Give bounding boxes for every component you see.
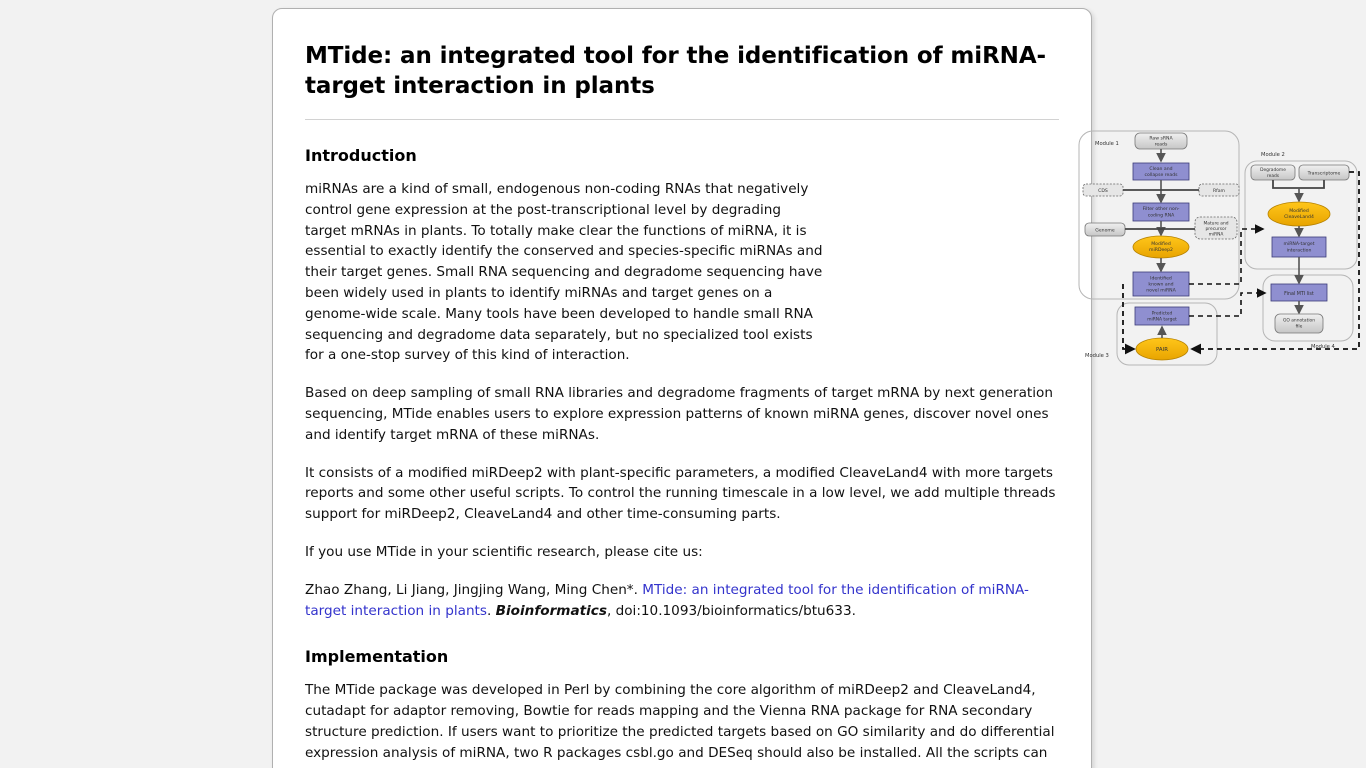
svg-text:miRNA-target: miRNA-target	[1283, 241, 1314, 247]
svg-text:CleaveLand4: CleaveLand4	[1284, 214, 1314, 220]
svg-text:miRNA target: miRNA target	[1147, 317, 1177, 323]
svg-text:Filter other non-: Filter other non-	[1143, 206, 1180, 212]
paragraph-cite-prompt: If you use MTide in your scientific rese…	[305, 542, 1065, 563]
svg-text:collapse reads: collapse reads	[1144, 172, 1178, 178]
paragraph-intro-3: It consists of a modified miRDeep2 with …	[305, 463, 1065, 525]
svg-text:Final MTI list: Final MTI list	[1284, 291, 1314, 297]
svg-text:Modified: Modified	[1151, 241, 1171, 247]
svg-text:Rfam: Rfam	[1213, 188, 1226, 194]
svg-text:Genome: Genome	[1095, 228, 1115, 234]
svg-text:reads: reads	[1155, 142, 1168, 148]
svg-text:CDS: CDS	[1098, 188, 1108, 194]
svg-text:PAIR: PAIR	[1156, 347, 1168, 353]
svg-text:coding RNA: coding RNA	[1148, 213, 1175, 219]
citation-separator: .	[487, 603, 496, 619]
citation-authors: Zhao Zhang, Li Jiang, Jingjing Wang, Min…	[305, 582, 642, 598]
citation-doi: , doi:10.1093/bioinformatics/btu633.	[607, 603, 856, 619]
svg-text:reads: reads	[1267, 173, 1280, 179]
paragraph-intro-2: Based on deep sampling of small RNA libr…	[305, 383, 1065, 445]
svg-text:interaction: interaction	[1287, 248, 1312, 254]
svg-text:novel miRNA: novel miRNA	[1146, 288, 1176, 294]
svg-text:Modified: Modified	[1289, 208, 1309, 214]
document-card: MTide: an integrated tool for the identi…	[272, 8, 1092, 768]
module-3-label: Module 3	[1085, 353, 1109, 359]
svg-text:GO annotation: GO annotation	[1283, 318, 1315, 324]
section-heading-introduction: Introduction	[305, 146, 1065, 165]
svg-text:miRDeep2: miRDeep2	[1149, 247, 1173, 253]
paragraph-intro-1: miRNAs are a kind of small, endogenous n…	[305, 179, 825, 366]
section-heading-implementation: Implementation	[305, 647, 1065, 666]
svg-text:Degradome: Degradome	[1260, 167, 1286, 173]
svg-text:Raw sRNA: Raw sRNA	[1149, 136, 1173, 142]
title-divider	[305, 119, 1059, 120]
module-2-label: Module 2	[1261, 152, 1285, 158]
page-title: MTide: an integrated tool for the identi…	[305, 41, 1065, 101]
svg-text:miRNA: miRNA	[1209, 232, 1224, 238]
module-1-label: Module 1	[1095, 141, 1119, 147]
page-root: MTide: an integrated tool for the identi…	[0, 0, 1366, 768]
svg-text:Transcriptome: Transcriptome	[1307, 171, 1341, 177]
paragraph-implementation-1: The MTide package was developed in Perl …	[305, 680, 1065, 768]
svg-text:Mature and: Mature and	[1203, 221, 1228, 227]
workflow-diagram: Module 1 Module 2 Module 3 Module 4 Raw …	[1073, 123, 1365, 369]
svg-text:precursor: precursor	[1206, 226, 1227, 232]
svg-text:Clean and: Clean and	[1149, 166, 1172, 172]
svg-text:Identified: Identified	[1150, 276, 1172, 282]
svg-text:file: file	[1296, 324, 1303, 330]
module-4-label: Module 4	[1311, 344, 1336, 350]
svg-text:Predicted: Predicted	[1152, 311, 1173, 317]
citation-journal: Bioinformatics	[496, 603, 607, 619]
svg-text:known and: known and	[1148, 282, 1173, 288]
citation: Zhao Zhang, Li Jiang, Jingjing Wang, Min…	[305, 580, 1065, 622]
